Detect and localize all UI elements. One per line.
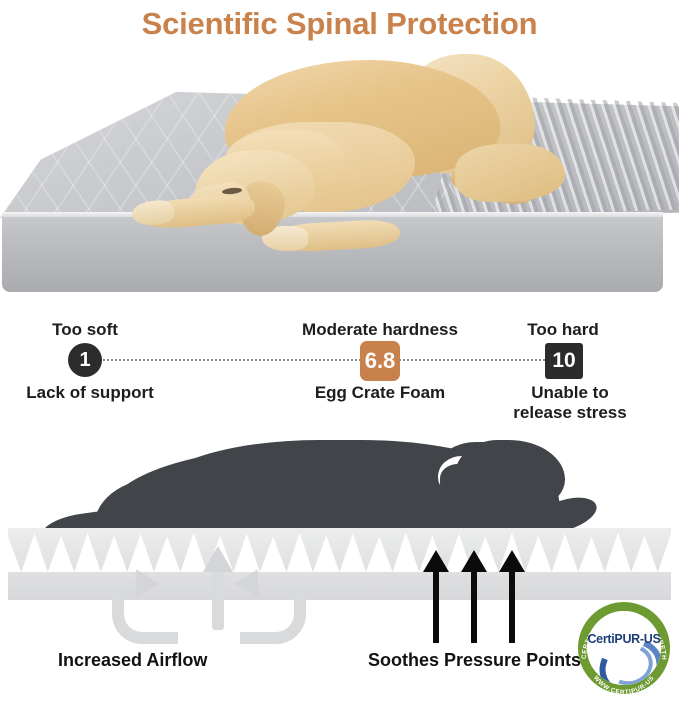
scale-left-bottom-label: Lack of support: [5, 383, 175, 403]
pressure-arrow-3-icon: [499, 550, 525, 572]
airflow-caption: Increased Airflow: [58, 650, 207, 671]
pressure-arrow-3-stem: [509, 571, 515, 643]
dog-rear-leg: [455, 144, 565, 202]
scale-middle-top-label: Moderate hardness: [290, 320, 470, 340]
scale-middle-bottom-label: Egg Crate Foam: [290, 383, 470, 403]
scale-marker-68: 6.8: [360, 341, 400, 381]
pressure-arrow-2-stem: [471, 571, 477, 643]
pressure-arrow-1-stem: [433, 571, 439, 643]
badge-wordmark: CertiPUR-US: [578, 632, 670, 646]
airflow-arrow-center-stem: [212, 570, 224, 630]
airflow-arrow-center-icon: [203, 546, 233, 572]
airflow-arrow-right-stem: [240, 588, 306, 644]
scale-right-top-label: Too hard: [498, 320, 628, 340]
scale-right-bottom-line2: release stress: [495, 403, 645, 423]
badge-inner-disc: [587, 611, 661, 685]
pressure-arrow-2-icon: [461, 550, 487, 572]
scale-marker-10: 10: [545, 343, 583, 379]
scale-left-top-label: Too soft: [20, 320, 150, 340]
certipur-us-badge: CONTAINS CERTIFIED FLEXIBLE POLYURETHANE…: [578, 608, 672, 690]
hero-product-photo: [0, 52, 679, 302]
hardness-scale: Too soft 1 Lack of support Moderate hard…: [0, 305, 679, 420]
pressure-caption: Soothes Pressure Points: [368, 650, 581, 671]
scale-right-bottom-line1: Unable to: [495, 383, 645, 403]
pressure-arrow-1-icon: [423, 550, 449, 572]
airflow-arrow-left-stem: [112, 588, 178, 644]
scale-right-bottom-label: Unable to release stress: [495, 383, 645, 422]
scale-dotted-line: [88, 359, 568, 361]
page-title: Scientific Spinal Protection: [0, 0, 679, 48]
scale-marker-1: 1: [68, 343, 102, 377]
